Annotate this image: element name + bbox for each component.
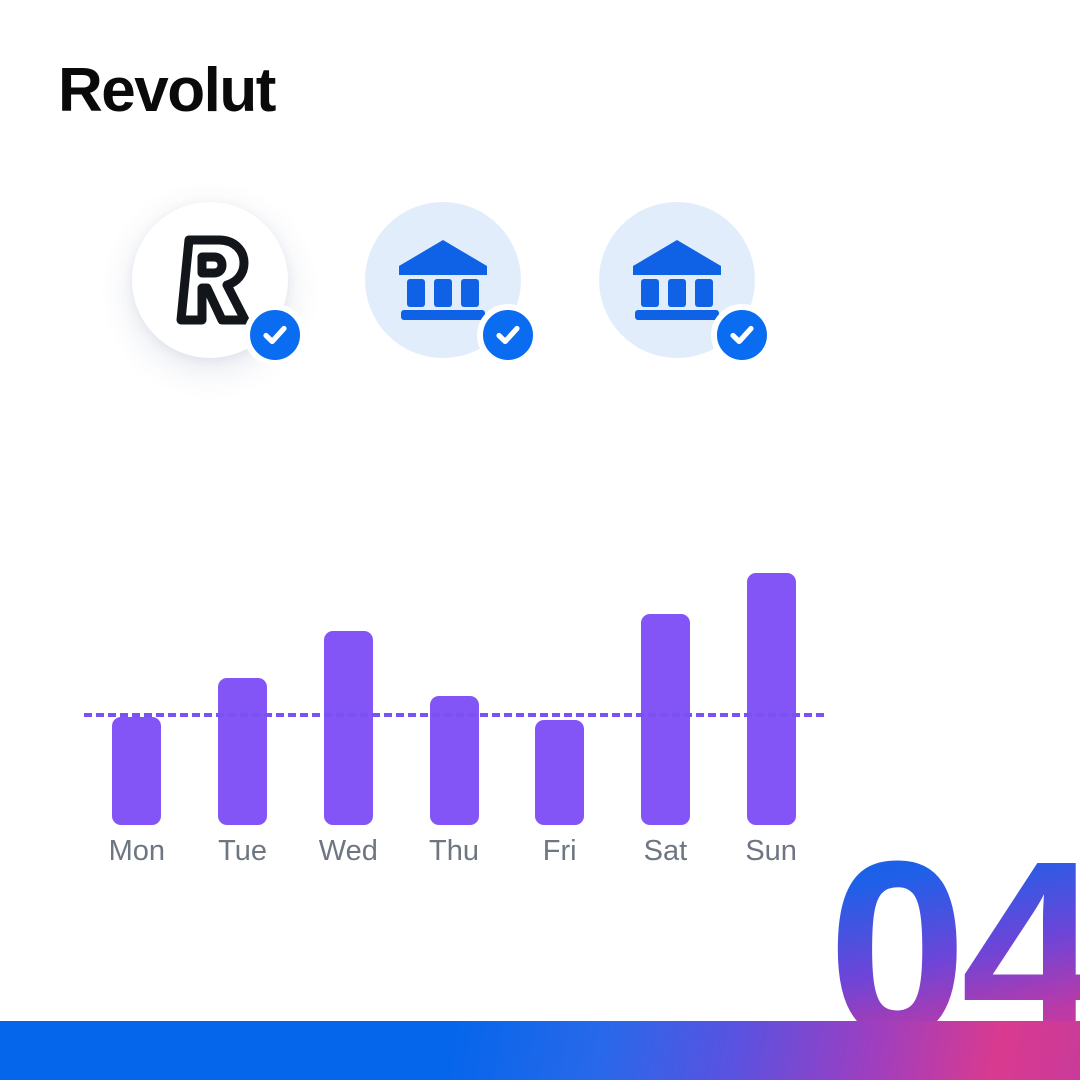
chart-bar[interactable] [641,614,690,825]
account-item-bank-2[interactable] [599,202,755,358]
verified-badge-revolut [244,304,306,366]
chart-x-label: Tue [183,833,303,869]
chart-x-label: Fri [500,833,620,869]
chart-bar[interactable] [218,678,267,825]
bank-icon [631,238,723,322]
bank-icon [397,238,489,322]
chart-bar[interactable] [324,631,373,825]
chart-bars [84,545,824,825]
account-item-bank-1[interactable] [365,202,521,358]
revolut-r-icon [167,234,253,326]
footer-gradient-bar [0,1021,1080,1080]
chart-bar[interactable] [112,717,161,825]
poster-canvas: Revolut [0,0,1080,1080]
chart-average-line [84,713,824,717]
chart-x-label: Sun [711,833,831,869]
chart-x-label: Mon [77,833,197,869]
accounts-row [0,0,1080,420]
chart-x-label: Wed [288,833,408,869]
weekly-activity-chart: MonTueWedThuFriSatSun [84,545,824,885]
chart-plot-area [84,545,824,825]
account-item-revolut[interactable] [132,202,288,358]
chart-bar[interactable] [535,720,584,825]
chart-bar[interactable] [747,573,796,825]
chart-x-label: Sat [605,833,725,869]
verified-badge-bank-2 [711,304,773,366]
chart-x-label: Thu [394,833,514,869]
verified-badge-bank-1 [477,304,539,366]
chart-x-axis-labels: MonTueWedThuFriSatSun [84,833,824,877]
